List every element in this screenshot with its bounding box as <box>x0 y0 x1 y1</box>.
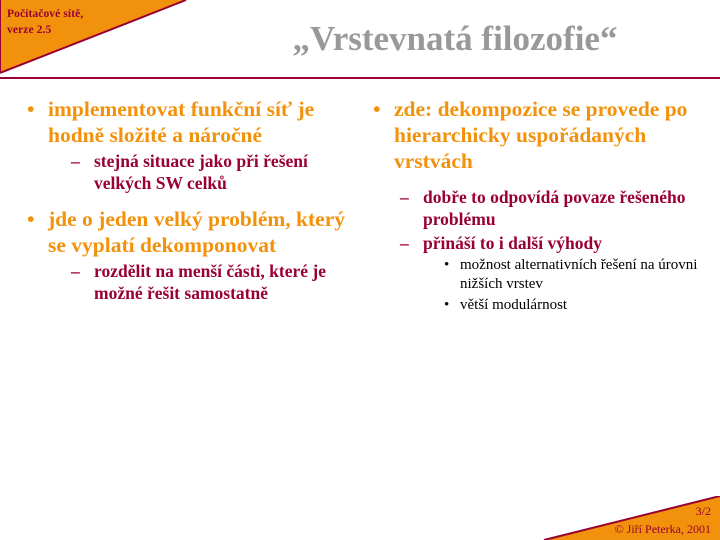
list-item: – stejná situace jako při řešení velkých… <box>14 150 359 194</box>
list-item: • jde o jeden velký problém, který se vy… <box>14 206 359 258</box>
list-item: • zde: dekompozice se provede po hierarc… <box>360 96 712 174</box>
slide-header: Počítačové sítě, verze 2.5 „Vrstevnatá f… <box>0 0 720 80</box>
bullet-dot-icon: • <box>373 96 381 122</box>
bullet-dot-icon: • <box>27 206 35 232</box>
list-item-label: dobře to odpovídá povaze řešeného problé… <box>423 187 686 229</box>
list-item: • implementovat funkční síť je hodně slo… <box>14 96 359 148</box>
list-item-label: přináší to i další výhody <box>423 233 602 253</box>
list-item-label: možnost alternativních řešení na úrovni … <box>460 257 697 292</box>
spacer <box>14 194 359 206</box>
course-label: Počítačové sítě, verze 2.5 <box>7 6 187 38</box>
list-item: – přináší to i další výhody <box>360 232 712 254</box>
slide-footer: 3/2 © Jiří Peterka, 2001 <box>0 494 720 540</box>
list-item: – rozdělit na menší části, které je možn… <box>14 260 359 304</box>
spacer <box>360 176 712 184</box>
list-item-label: implementovat funkční síť je hodně složi… <box>48 97 314 147</box>
bullet-dot-icon: • <box>444 256 449 275</box>
list-item-label: jde o jeden velký problém, který se vypl… <box>48 207 345 257</box>
copyright-notice: © Jiří Peterka, 2001 <box>615 522 711 536</box>
dash-icon: – <box>400 232 409 254</box>
course-version: verze 2.5 <box>7 22 187 38</box>
slide: Počítačové sítě, verze 2.5 „Vrstevnatá f… <box>0 0 720 540</box>
right-content-column: • zde: dekompozice se provede po hierarc… <box>360 96 712 315</box>
list-item-label: rozdělit na menší části, které je možné … <box>94 261 326 303</box>
bullet-dot-icon: • <box>27 96 35 122</box>
list-item-label: větší modulárnost <box>460 297 567 313</box>
dash-icon: – <box>71 150 80 172</box>
page-number: 3/2 <box>696 504 711 518</box>
page-title: „Vrstevnatá filozofie“ <box>200 18 710 60</box>
list-item: • větší modulárnost <box>360 296 712 315</box>
list-item: • možnost alternativních řešení na úrovn… <box>360 256 712 294</box>
list-item-label: zde: dekompozice se provede po hierarchi… <box>394 97 687 173</box>
course-title: Počítačové sítě, <box>7 6 187 22</box>
dash-icon: – <box>400 186 409 208</box>
dash-icon: – <box>71 260 80 282</box>
list-item: – dobře to odpovídá povaze řešeného prob… <box>360 186 712 230</box>
slide-body: • implementovat funkční síť je hodně slo… <box>0 96 720 496</box>
list-item-label: stejná situace jako při řešení velkých S… <box>94 151 308 193</box>
bullet-dot-icon: • <box>444 296 449 315</box>
left-content-column: • implementovat funkční síť je hodně slo… <box>14 96 359 304</box>
title-divider <box>0 77 720 79</box>
